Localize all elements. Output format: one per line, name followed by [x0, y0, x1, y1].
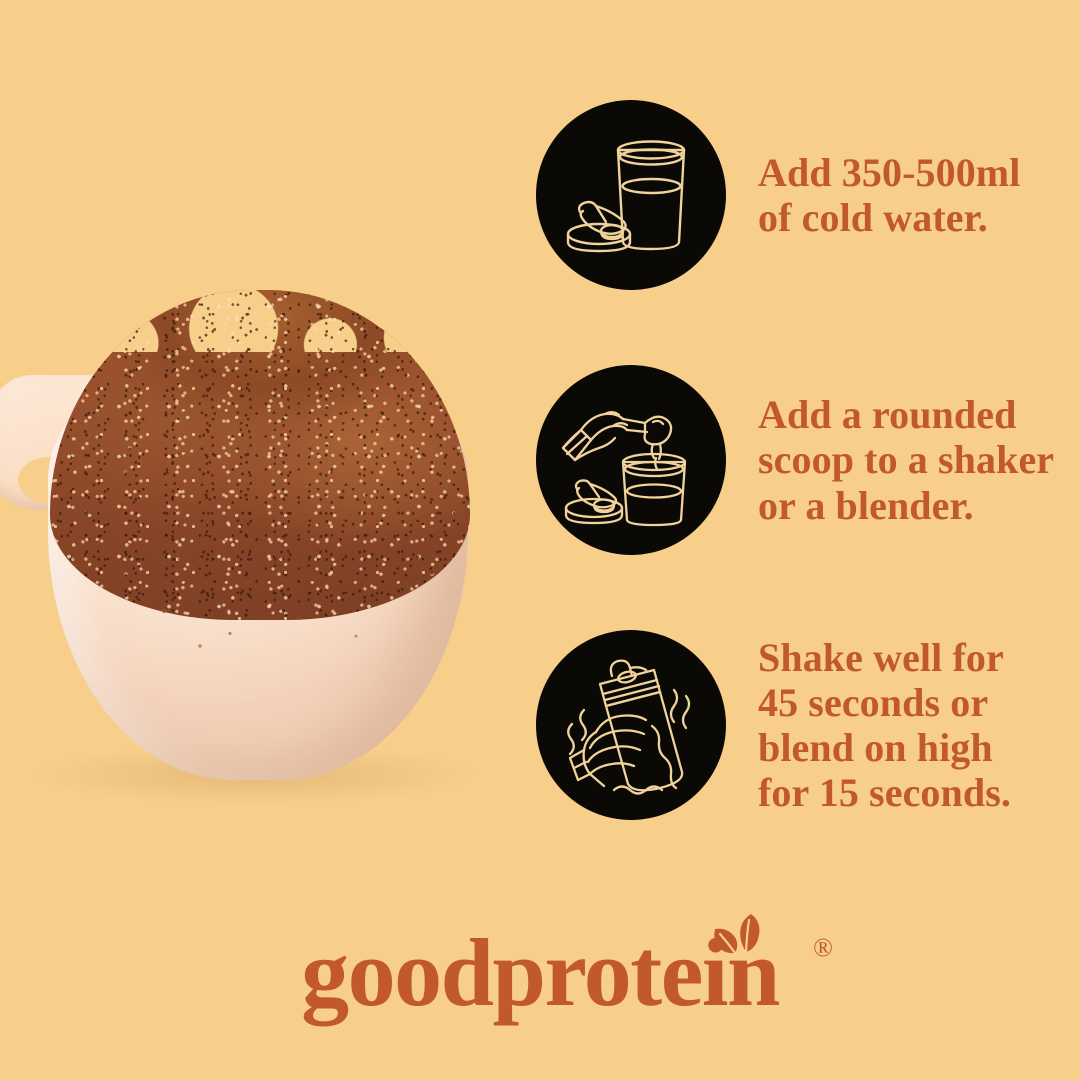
powder-grain-texture — [50, 290, 470, 620]
powder-crumbs — [110, 590, 410, 660]
step-3: Shake well for 45 seconds or blend on hi… — [536, 630, 1080, 820]
hand-pouring-scoop-into-glass-icon — [561, 392, 701, 528]
hand-shaking-bottle-icon — [560, 654, 702, 796]
step-2: Add a rounded scoop to a shaker or a ble… — [536, 365, 1080, 555]
step-1-text: Add 350-500ml of cold water. — [758, 150, 1020, 240]
step-2-badge — [536, 365, 726, 555]
logo-wrap: goodprotein ® — [301, 925, 779, 1021]
step-1: Add 350-500ml of cold water. — [536, 100, 1080, 290]
infographic-canvas: Add 350-500ml of cold water. — [0, 0, 1080, 1080]
protein-powder-mound — [50, 290, 470, 620]
step-1-badge — [536, 100, 726, 290]
step-3-text: Shake well for 45 seconds or blend on hi… — [758, 635, 1011, 816]
product-image — [0, 290, 510, 790]
registered-trademark-mark: ® — [813, 933, 833, 963]
glass-of-water-with-scoop-icon — [566, 134, 696, 256]
step-3-badge — [536, 630, 726, 820]
instruction-steps: Add 350-500ml of cold water. — [536, 100, 1080, 820]
brand-logo: goodprotein ® — [0, 925, 1080, 1021]
step-2-text: Add a rounded scoop to a shaker or a ble… — [758, 392, 1054, 528]
two-leaves-icon — [705, 911, 775, 965]
